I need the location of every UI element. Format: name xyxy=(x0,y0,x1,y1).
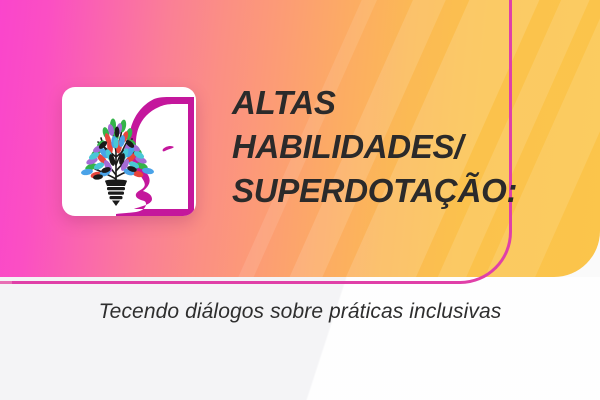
page-title: ALTAS HABILIDADES/ SUPERDOTAÇÃO: xyxy=(232,81,572,213)
tree-leaves xyxy=(81,119,155,181)
lightbulb-base-icon xyxy=(105,180,127,207)
banner-root: ALTAS HABILIDADES/ SUPERDOTAÇÃO: Tecendo… xyxy=(0,0,600,400)
bottom-panel-diagonal-highlight xyxy=(0,277,600,400)
logo-card xyxy=(62,87,196,216)
page-subtitle: Tecendo diálogos sobre práticas inclusiv… xyxy=(0,300,600,324)
lightbulb-tree-head-icon xyxy=(62,87,196,216)
